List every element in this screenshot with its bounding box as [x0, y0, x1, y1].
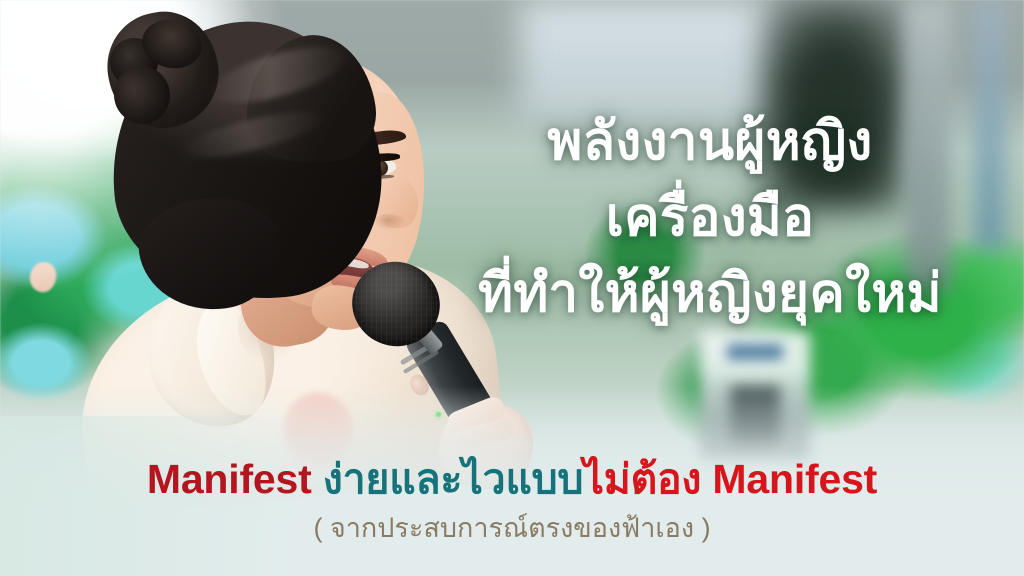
tagline-segment-1: Manifest	[147, 456, 323, 502]
headline: พลังงานผู้หญิง เครื่องมือ ที่ทำให้ผู้หญิ…	[440, 104, 980, 332]
tagline-segment-3: ไม่ต้อง Manifest	[583, 456, 877, 502]
tagline: Manifest ง่ายและไวแบบไม่ต้อง Manifest	[0, 447, 1024, 512]
headline-line-3: ที่ทำให้ผู้หญิงยุคใหม่	[440, 256, 980, 332]
headline-line-2: เครื่องมือ	[440, 180, 980, 256]
tagline-segment-2: ง่ายและไวแบบ	[323, 456, 584, 502]
headline-line-1: พลังงานผู้หญิง	[440, 104, 980, 180]
background-appliance-top-panel	[727, 344, 783, 360]
nose-shadow	[372, 214, 406, 230]
promotional-banner: พลังงานผู้หญิง เครื่องมือ ที่ทำให้ผู้หญิ…	[0, 0, 1024, 576]
background-hand	[26, 259, 60, 296]
sub-tagline: ( จากประสบการณ์ตรงของฟ้าเอง )	[0, 506, 1024, 549]
